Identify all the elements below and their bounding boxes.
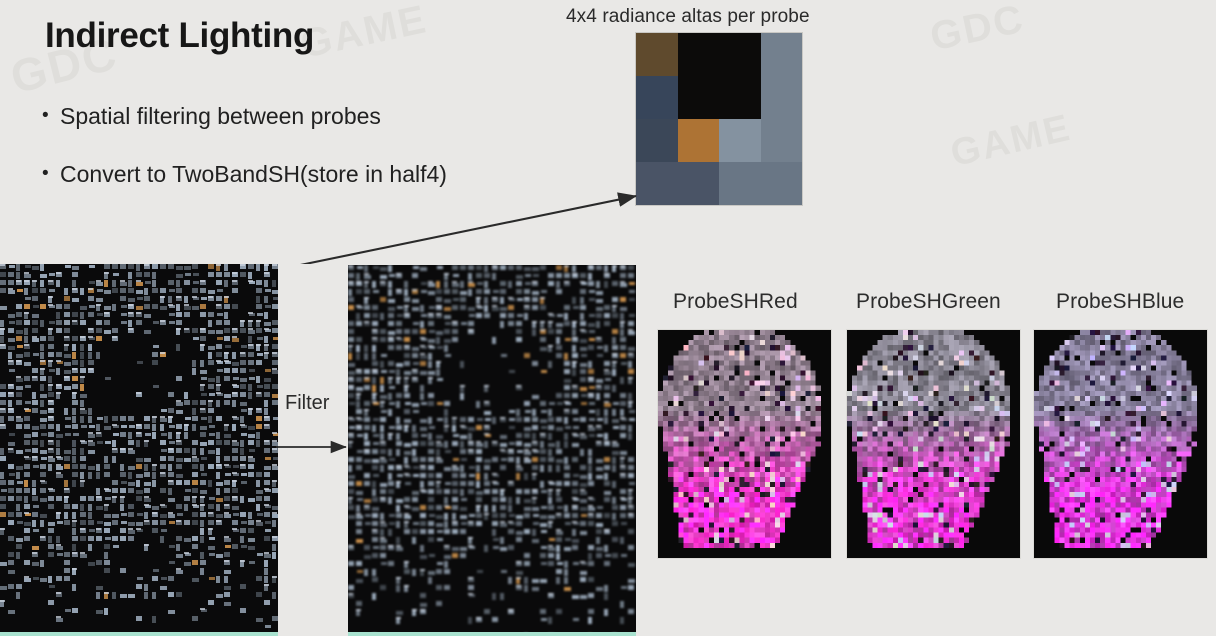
watermark-text: GDC	[926, 0, 1028, 60]
probe-radiance-atlas-filtered	[348, 265, 636, 636]
atlas-caption: 4x4 radiance altas per probe	[566, 6, 810, 28]
probe-label-blue: ProbeSHBlue	[1056, 290, 1184, 314]
atlas-cell-14	[719, 162, 761, 205]
atlas-cell-1	[678, 33, 720, 76]
bullet-text: Spatial filtering between probes	[60, 103, 381, 130]
probe-label-red: ProbeSHRed	[673, 290, 798, 314]
accent-segment-1	[348, 632, 636, 636]
accent-segment-0	[0, 632, 278, 636]
atlas-cell-0	[636, 33, 678, 76]
layout-gap	[278, 264, 348, 636]
bullet-marker-icon: •	[42, 103, 60, 129]
bottom-accent-bar	[0, 632, 1216, 636]
radiance-atlas-grid	[636, 33, 802, 205]
atlas-cell-5	[678, 76, 720, 119]
bullet-text: Convert to TwoBandSH(store in half4)	[60, 161, 447, 188]
probe-radiance-atlas-unfiltered	[0, 264, 278, 636]
atlas-cell-11	[761, 119, 803, 162]
watermark-text: GAME	[297, 0, 432, 68]
probe-sh-green-image	[847, 330, 1020, 558]
atlas-cell-6	[719, 76, 761, 119]
atlas-cell-13	[678, 162, 720, 205]
atlas-cell-10	[719, 119, 761, 162]
bullet-item: • Spatial filtering between probes	[42, 103, 381, 130]
atlas-cell-2	[719, 33, 761, 76]
probe-label-green: ProbeSHGreen	[856, 290, 1001, 314]
slide-canvas: GDC GAME GDC GAME GDC GAME Indirect Ligh…	[0, 0, 1216, 636]
filter-label: Filter	[285, 392, 329, 415]
atlas-cell-4	[636, 76, 678, 119]
slide-title: Indirect Lighting	[45, 16, 314, 56]
bullet-item: • Convert to TwoBandSH(store in half4)	[42, 161, 447, 188]
atlas-cell-12	[636, 162, 678, 205]
atlas-cell-8	[636, 119, 678, 162]
atlas-cell-15	[761, 162, 803, 205]
watermark-text: GAME	[947, 107, 1076, 176]
probe-sh-blue-image	[1034, 330, 1207, 558]
atlas-cell-7	[761, 76, 803, 119]
bullet-marker-icon: •	[42, 161, 60, 187]
atlas-cell-3	[761, 33, 803, 76]
atlas-cell-9	[678, 119, 720, 162]
probe-sh-red-image	[658, 330, 831, 558]
